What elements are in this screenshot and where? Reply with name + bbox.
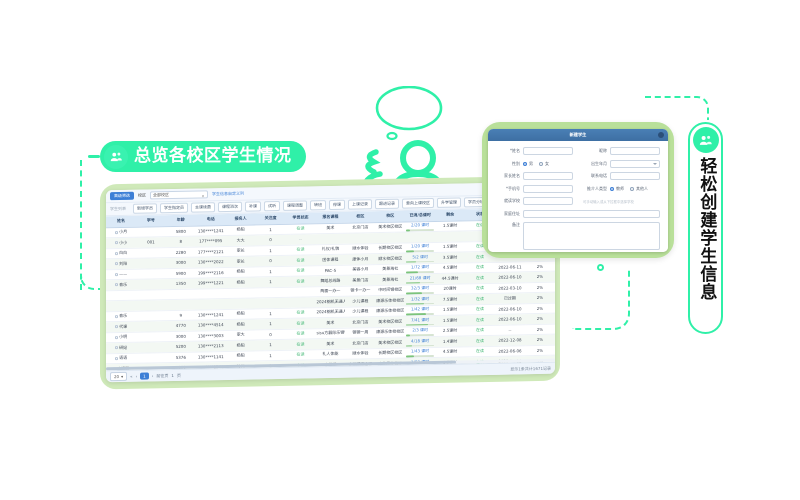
column-header[interactable]: 剩余	[435, 209, 465, 221]
campus-select-value: 全部校区	[153, 192, 169, 198]
gender-field: 性别 男 女	[496, 161, 573, 167]
table-cell: 杨阳	[226, 350, 256, 361]
table-cell: 在读	[465, 293, 495, 304]
column-header[interactable]: 关注度	[256, 213, 286, 225]
parent-name-label: 家长姓名	[496, 173, 520, 179]
table-cell: 1.5课时	[435, 241, 465, 252]
table-cell	[196, 299, 226, 310]
table-cell: 2024钢机无通人方面	[315, 296, 345, 307]
table-cell	[106, 290, 136, 301]
row-checkbox[interactable]	[115, 357, 118, 360]
address-input[interactable]	[523, 210, 660, 218]
gender-radio-female[interactable]: 女	[539, 161, 549, 167]
table-cell: 美容小月	[345, 264, 375, 275]
table-cell	[196, 288, 226, 299]
next-page-button[interactable]: ›	[152, 373, 154, 378]
table-cell: 在读	[465, 304, 495, 315]
table-cell: 130****1241	[196, 225, 226, 236]
table-cell	[345, 233, 375, 244]
table-cell: 在读	[465, 314, 495, 325]
table-cell: 2022-03-10	[495, 282, 525, 293]
parent-phone-input[interactable]	[610, 172, 660, 180]
table-cell: --	[495, 324, 525, 335]
row-checkbox[interactable]	[115, 231, 118, 234]
table-cell: 5200	[166, 341, 196, 352]
table-cell: 1.5课时	[435, 315, 465, 326]
toolbar-button[interactable]: 补课	[245, 201, 261, 211]
table-cell: 钢钢一周	[345, 327, 375, 338]
table-cell: 3000	[166, 331, 196, 342]
left-feature-badge: 总览各校区学生情况	[100, 141, 306, 172]
advanced-filter-button[interactable]: 高级筛选	[110, 192, 134, 200]
table-cell: 小月	[106, 227, 136, 238]
table-cell: 白白	[106, 248, 136, 259]
column-header[interactable]: 报名课程	[315, 212, 345, 224]
table-cell: 两面一办一	[315, 286, 345, 297]
column-header[interactable]: 学号	[136, 215, 166, 227]
dialog-titlebar: 新建学生	[488, 129, 668, 141]
table-cell: 1.5课时	[435, 304, 465, 315]
table-cell	[166, 289, 196, 300]
table-cell: 杨阳	[226, 308, 256, 319]
table-cell: 7.5课时	[435, 294, 465, 305]
table-cell: 小明	[106, 332, 136, 343]
left-badge-label: 总览各校区学生情况	[134, 148, 292, 165]
school-hint: 可手动输入或从下拉框中选择学校	[583, 199, 634, 204]
table-cell	[136, 268, 166, 279]
column-header[interactable]: 校区	[345, 211, 375, 223]
table-cell: 2022-06-06	[495, 345, 525, 356]
gender-radio-male[interactable]: 男	[523, 161, 533, 167]
poster-canvas: 总览各校区学生情况 轻松创建学生信息 高级筛选 校区 全部校区 ▾ 学生信息自定…	[0, 0, 800, 500]
table-cell: 1	[256, 266, 286, 277]
table-cell: 8	[166, 236, 196, 247]
form-row: 家庭住址	[496, 210, 660, 218]
table-cell: 美术校区校区	[375, 316, 405, 327]
right-badge-label: 轻松创建学生信息	[697, 157, 715, 301]
remark-textarea[interactable]	[523, 222, 660, 250]
page-size-value: 20	[114, 374, 119, 379]
table-cell: 1.4课时	[435, 336, 465, 347]
people-icon	[693, 127, 719, 153]
column-header[interactable]: 已消/总课时	[405, 210, 435, 222]
toolbar-button[interactable]: 跟进记录	[375, 199, 399, 209]
table-cell: 在读	[286, 244, 316, 255]
dialog-title: 新建学生	[570, 132, 587, 138]
table-cell: 在读	[286, 255, 316, 266]
parent-name-field: 家长姓名	[496, 172, 573, 180]
table-cell	[226, 287, 256, 298]
table-cell: 21/68 课时	[405, 273, 435, 284]
table-cell: 在读	[286, 339, 316, 350]
table-cell: 音乐	[106, 311, 136, 322]
form-row: 家长姓名 联系电话	[496, 172, 660, 180]
table-cell	[405, 231, 435, 242]
table-cell: 美术	[315, 338, 345, 349]
referrer-radio-other[interactable]: 其他人	[630, 186, 648, 192]
toolbar-button[interactable]: 上课记录	[348, 199, 372, 209]
table-cell: 在读	[465, 262, 495, 273]
table-cell: 在读	[465, 283, 495, 294]
table-cell: 美术	[315, 223, 345, 234]
table-cell: 家大	[226, 329, 256, 340]
table-cell	[136, 300, 166, 311]
table-cell: 1/43 课时	[405, 347, 435, 358]
toolbar-button[interactable]: 课程调整	[283, 200, 307, 210]
table-cell: 2%	[525, 313, 555, 324]
school-input[interactable]	[523, 197, 573, 205]
toolbar-button[interactable]: 试听	[264, 201, 280, 211]
table-cell: 礼人体能	[315, 349, 345, 360]
table-cell: 顺水体验	[345, 348, 375, 359]
table-cell: 2%	[525, 303, 555, 314]
table-cell: 代课	[106, 321, 136, 332]
table-cell: 0	[256, 234, 286, 245]
column-header[interactable]: 校区	[375, 211, 405, 223]
table-cell: 1	[256, 224, 286, 235]
table-cell	[375, 232, 405, 243]
table-cell: 在读	[286, 276, 316, 287]
table-cell	[136, 331, 166, 342]
name-field: *姓名	[496, 147, 573, 155]
table-cell	[166, 299, 196, 310]
form-row: 就读学校 可手动输入或从下拉框中选择学校	[496, 197, 660, 205]
phone-input[interactable]	[523, 185, 573, 193]
table-cell: PAC-5	[315, 265, 345, 276]
table-cell: 32/3 课时	[405, 284, 435, 295]
name-input[interactable]	[523, 147, 573, 155]
badge-tail	[88, 155, 100, 158]
table-cell: 大大	[226, 235, 256, 246]
form-row: *姓名 昵称	[496, 147, 660, 155]
table-cell: 钢卡一办一	[345, 285, 375, 296]
school-hint-wrap: 可手动输入或从下拉框中选择学校	[583, 199, 660, 204]
table-cell: 舞蹈总线路	[315, 275, 345, 286]
table-cell: 2%	[525, 324, 555, 335]
table-cell: 5900	[166, 268, 196, 279]
table-cell: 美景门店	[345, 275, 375, 286]
table-cell	[286, 297, 316, 308]
table-cell: --	[286, 234, 316, 245]
name-label: *姓名	[496, 148, 520, 154]
new-student-dialog-frame: 新建学生 *姓名 昵称 性别	[482, 122, 674, 258]
table-cell: 5376	[166, 352, 196, 363]
toolbar-button[interactable]: 主课续费	[191, 202, 215, 212]
table-cell: 1	[256, 318, 286, 329]
row-checkbox[interactable]	[115, 283, 118, 286]
dialog-body: *姓名 昵称 性别 男 女	[488, 141, 668, 252]
toolbar-button[interactable]: 升学管理	[437, 197, 461, 207]
table-cell: 44.5课时	[435, 273, 465, 284]
table-cell: 家长	[226, 245, 256, 256]
table-cell: 杨阳	[226, 340, 256, 351]
nickname-field: 昵称	[583, 147, 660, 155]
table-cell: 130****1241	[196, 309, 226, 320]
table-cell: 顺水体验	[345, 243, 375, 254]
table-cell	[256, 297, 286, 308]
campus-label: 校区	[138, 193, 146, 199]
table-cell	[136, 352, 166, 363]
table-cell	[136, 226, 166, 237]
table-cell: 5800	[166, 226, 196, 237]
table-cell	[106, 300, 136, 311]
address-label: 家庭住址	[496, 211, 520, 217]
table-cell: 康源乐体校校区	[375, 327, 405, 338]
form-row: 性别 男 女 出生年月	[496, 160, 660, 168]
first-page-button[interactable]: «	[130, 374, 132, 379]
table-cell: 在读	[286, 223, 316, 234]
campus-select[interactable]: 全部校区 ▾	[150, 190, 208, 199]
table-cell: 2%	[525, 292, 555, 303]
table-cell: 130****4514	[196, 320, 226, 331]
row-checkbox[interactable]	[115, 241, 118, 244]
table-cell: 长期校区校区	[375, 243, 405, 254]
table-cell: 杨阳	[226, 224, 256, 235]
table-cell: 1/72 课时	[405, 263, 435, 274]
school-field: 就读学校	[496, 197, 573, 205]
row-checkbox[interactable]	[115, 336, 118, 339]
table-cell: 2/3 课时	[405, 326, 435, 337]
table-cell: 177****095	[196, 236, 226, 247]
table-cell: 2024钢机无通人方面	[315, 307, 345, 318]
table-cell: 1/42 课时	[405, 305, 435, 316]
phone-field: *手机号	[496, 185, 573, 193]
table-cell: 杨阳	[226, 319, 256, 330]
table-cell: 小小	[106, 237, 136, 248]
table-cell: 199****2116	[196, 267, 226, 278]
prev-page-button[interactable]: ‹	[136, 374, 138, 379]
table-cell: 在读	[286, 349, 316, 360]
table-cell: 2022-06-10	[495, 303, 525, 314]
custom-columns-link[interactable]: 学生信息自定义列	[212, 191, 244, 198]
table-cell	[286, 286, 316, 297]
table-cell: 2%	[525, 345, 555, 356]
table-cell: 中时间钢校区	[375, 285, 405, 296]
table-cell: 177****2121	[196, 246, 226, 257]
table-cell: 礼仪/礼貌	[315, 244, 345, 255]
table-cell: 7/41 课时	[405, 315, 435, 326]
table-cell: 2022-06-11	[495, 261, 525, 272]
referrer-radio-other-label: 其他人	[636, 186, 648, 192]
table-cell	[136, 247, 166, 258]
table-cell	[136, 321, 166, 332]
referrer-radio-group: 教师 其他人	[610, 186, 660, 192]
table-cell: 1	[256, 339, 286, 350]
table-cell: 康源乐体校校区	[375, 306, 405, 317]
table-cell: 1.5课时	[435, 220, 465, 231]
table-cell: 刘阳	[106, 258, 136, 269]
table-cell	[136, 258, 166, 269]
table-cell: 在读	[286, 265, 316, 276]
table-cell: 在读	[286, 318, 316, 329]
table-cell: 2%	[525, 271, 555, 282]
table-cell: 杨阳	[226, 266, 256, 277]
row-checkbox[interactable]	[115, 273, 118, 276]
table-cell	[315, 233, 345, 244]
table-cell: 研妃	[106, 342, 136, 353]
current-page[interactable]: 1	[140, 372, 149, 379]
table-cell: 130****3003	[196, 330, 226, 341]
table-cell: 0	[256, 329, 286, 340]
new-student-dialog: 新建学生 *姓名 昵称 性别	[488, 129, 668, 252]
table-cell: 在读	[286, 307, 316, 318]
table-cell: 1/20 课时	[405, 242, 435, 253]
nickname-input[interactable]	[610, 147, 660, 155]
column-header[interactable]: 报名人	[226, 213, 256, 225]
table-cell: 康体小月	[345, 254, 375, 265]
table-cell: 130****1141	[196, 351, 226, 362]
total-records-label: 显示1条共计1671记录	[510, 365, 551, 372]
table-cell: 2022-12-08	[495, 335, 525, 346]
address-field: 家庭住址	[496, 210, 660, 218]
table-cell: 9	[166, 310, 196, 321]
birthday-label: 出生年月	[583, 161, 607, 167]
row-checkbox[interactable]	[115, 262, 118, 265]
table-cell: 少儿课程	[345, 296, 375, 307]
table-cell: 2%	[525, 261, 555, 272]
referrer-radio-teacher[interactable]: 教师	[610, 186, 624, 192]
table-cell: 在读	[465, 325, 495, 336]
school-label: 就读学校	[496, 198, 520, 204]
column-header[interactable]: 年龄	[166, 215, 196, 227]
table-cell: 1/32 课时	[405, 294, 435, 305]
table-cell: 130****2022	[196, 257, 226, 268]
table-cell: 130****2113	[196, 341, 226, 352]
table-cell	[136, 279, 166, 290]
row-checkbox[interactable]	[115, 325, 118, 328]
people-icon	[104, 145, 128, 169]
table-cell: 3.5课时	[435, 252, 465, 263]
table-cell: 2%	[525, 282, 555, 293]
close-icon[interactable]	[658, 132, 664, 138]
table-cell: 199****1221	[196, 278, 226, 289]
parent-phone-field: 联系电话	[583, 172, 660, 180]
table-cell: 在读	[286, 328, 316, 339]
table-cell: 4770	[166, 320, 196, 331]
connector-dot	[597, 264, 604, 271]
goto-input[interactable]: 1	[171, 373, 174, 378]
table-cell: 在读	[465, 335, 495, 346]
table-cell: 康源乐体校校区	[375, 295, 405, 306]
table-cell: 美术	[315, 317, 345, 328]
table-cell: 长期校区校区	[375, 348, 405, 359]
toolbar-button[interactable]: 转班	[310, 200, 326, 210]
row-checkbox[interactable]	[115, 346, 118, 349]
table-cell: 2%	[525, 334, 555, 345]
referrer-radio-teacher-label: 教师	[616, 186, 624, 192]
table-cell: 0	[256, 255, 286, 266]
table-cell: 1350	[166, 278, 196, 289]
toolbar-button[interactable]: 意向上课校区	[402, 198, 434, 209]
table-cell	[136, 310, 166, 321]
row-checkbox[interactable]	[115, 252, 118, 255]
table-cell: 顺水校区校区	[375, 253, 405, 264]
table-cell: sisu方器际乐钢钢	[315, 328, 345, 339]
remark-field: 备注	[496, 222, 660, 250]
phone-label: *手机号	[496, 186, 520, 192]
parent-name-input[interactable]	[523, 172, 573, 180]
referrer-label: 推介人类型	[583, 186, 607, 192]
table-cell: 在读	[465, 272, 495, 283]
table-cell: 2022-06-10	[495, 272, 525, 283]
gender-radio-male-label: 男	[529, 161, 533, 167]
table-cell: 北京门店	[345, 338, 375, 349]
table-cell: 1	[256, 276, 286, 287]
table-cell: 在读	[465, 346, 495, 357]
column-header[interactable]: 电话	[196, 214, 226, 226]
table-cell: 美景海社	[375, 274, 405, 285]
goto-label: 前往页	[156, 373, 168, 379]
table-cell	[435, 231, 465, 242]
chevron-down-icon: ▾	[121, 374, 123, 379]
parent-phone-label: 联系电话	[583, 173, 607, 179]
referrer-field: 推介人类型 教师 其他人	[583, 186, 660, 192]
page-size-select[interactable]: 20 ▾	[110, 372, 127, 381]
table-cell: 1	[256, 245, 286, 256]
table-cell: 已过期	[495, 293, 525, 304]
table-cell: 2.5课时	[435, 325, 465, 336]
table-cell	[136, 342, 166, 353]
table-cell: 5/2 课时	[405, 252, 435, 263]
birthday-input[interactable]	[610, 160, 660, 168]
dashed-connector-bottom-right	[572, 268, 630, 330]
toolbar-button[interactable]: 新增学员	[133, 203, 157, 213]
row-checkbox[interactable]	[115, 315, 118, 318]
table-cell: 001	[136, 237, 166, 248]
table-cell: 2/20 课时	[405, 221, 435, 232]
table-cell	[136, 289, 166, 300]
toolbar-button[interactable]: 停课	[329, 200, 345, 210]
table-cell: 杨阳	[226, 277, 256, 288]
table-cell: 1	[256, 350, 286, 361]
toolbar-button[interactable]: 课程消次	[218, 202, 242, 212]
gender-radio-group: 男 女	[523, 161, 573, 167]
table-cell	[256, 287, 286, 298]
table-cell	[226, 298, 256, 309]
table-cell: 语语	[106, 353, 136, 364]
nickname-label: 昵称	[583, 148, 607, 154]
gender-radio-female-label: 女	[545, 161, 549, 167]
gender-label: 性别	[496, 161, 520, 167]
dashed-connector-top-right	[645, 96, 709, 120]
table-cell: ——	[106, 269, 136, 280]
toolbar-title: 学生列表	[110, 206, 126, 212]
table-cell: 美景海社	[375, 264, 405, 275]
table-cell: 2280	[166, 247, 196, 258]
table-cell: 美术校区校区	[375, 222, 405, 233]
toolbar-button[interactable]: 学生指定员	[160, 203, 188, 214]
form-row: *手机号 推介人类型 教师 其他人	[496, 185, 660, 193]
dashed-connector-left	[80, 160, 82, 290]
table-cell: 3000	[166, 257, 196, 268]
table-cell: 北京门店	[345, 317, 375, 328]
column-header[interactable]: 姓名	[106, 216, 136, 228]
column-header[interactable]: 学员状态	[286, 212, 316, 224]
right-feature-badge: 轻松创建学生信息	[688, 122, 723, 334]
table-cell: 美术校区校区	[375, 337, 405, 348]
remark-label: 备注	[496, 222, 520, 228]
table-cell: 北京门店	[345, 222, 375, 233]
table-cell: 4.5课时	[435, 262, 465, 273]
table-cell: 1	[256, 308, 286, 319]
table-cell: 4/18 课时	[405, 336, 435, 347]
table-cell: 家长	[226, 256, 256, 267]
table-cell: 20课时	[435, 283, 465, 294]
form-row: 备注	[496, 222, 660, 250]
birthday-field: 出生年月	[583, 160, 660, 168]
chevron-down-icon: ▾	[202, 193, 204, 198]
page-unit: 页	[177, 372, 181, 378]
